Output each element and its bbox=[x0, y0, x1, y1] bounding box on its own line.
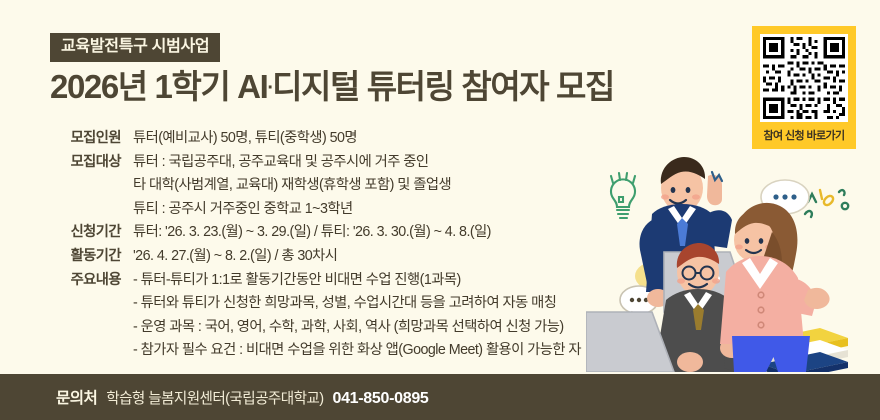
lightbulb-icon bbox=[611, 173, 635, 218]
info-row-label: 모집인원 bbox=[48, 127, 133, 151]
info-row-value: 튜터: '26. 3. 23.(월) ~ 3. 29.(일) / 튜티: '26… bbox=[133, 221, 648, 245]
info-row-label: 모집대상 bbox=[48, 151, 133, 175]
info-row: 주요내용- 튜터-튜티가 1:1로 활동기간동안 비대면 수업 진행(1과목) bbox=[48, 269, 648, 293]
program-badge: 교육발전특구 시범사업 bbox=[50, 33, 220, 62]
three-people-studying-illustration bbox=[586, 140, 880, 372]
info-row-label: 신청기간 bbox=[48, 221, 133, 245]
info-row: 활동기간'26. 4. 27.(월) ~ 8. 2.(일) / 총 30차시 bbox=[48, 245, 648, 269]
confetti-icon bbox=[805, 190, 848, 217]
page-title: 2026년 1학기 AI·디지털 튜터링 참여자 모집 bbox=[50, 68, 614, 107]
info-row: 신청기간튜터: '26. 3. 23.(월) ~ 3. 29.(일) / 튜티:… bbox=[48, 221, 648, 245]
qr-code-wrap bbox=[752, 26, 856, 124]
qr-apply-block[interactable]: 참여 신청 바로가기 bbox=[752, 26, 856, 149]
info-row-subline: - 튜터와 튜티가 신청한 희망과목, 성별, 수업시간대 등을 고려하여 자동… bbox=[48, 292, 648, 316]
info-row-subline: 타 대학(사범계열, 교육대) 재학생(휴학생 포함) 및 졸업생 bbox=[48, 174, 648, 198]
info-row: 모집대상튜터 : 국립공주대, 공주교육대 및 공주시에 거주 중인 bbox=[48, 151, 648, 175]
poster-root: 교육발전특구 시범사업 2026년 1학기 AI·디지털 튜터링 참여자 모집 … bbox=[0, 0, 880, 420]
footer-bar: 문의처 학습형 늘봄지원센터(국립공주대학교) 041-850-0895 bbox=[0, 374, 880, 420]
info-row-label: 주요내용 bbox=[48, 269, 133, 293]
title-part2: 디지털 튜터링 참여자 모집 bbox=[272, 68, 614, 105]
title-part1: 2026년 1학기 AI bbox=[50, 68, 267, 105]
info-row-value: 튜터(예비교사) 50명, 튜티(중학생) 50명 bbox=[133, 127, 648, 151]
footer-contact-label: 문의처 bbox=[56, 386, 97, 408]
info-row-value: 튜터 : 국립공주대, 공주교육대 및 공주시에 거주 중인 bbox=[133, 151, 648, 175]
qr-code-icon bbox=[760, 34, 848, 122]
info-table: 모집인원튜터(예비교사) 50명, 튜티(중학생) 50명모집대상튜터 : 국립… bbox=[48, 127, 648, 363]
info-row-subline: 튜티 : 공주시 거주중인 중학교 1~3학년 bbox=[48, 198, 648, 222]
info-row: 모집인원튜터(예비교사) 50명, 튜티(중학생) 50명 bbox=[48, 127, 648, 151]
info-row-label: 활동기간 bbox=[48, 245, 133, 269]
footer-organization: 학습형 늘봄지원센터(국립공주대학교) bbox=[106, 387, 323, 408]
info-row-subline: - 운영 과목 : 국어, 영어, 수학, 과학, 사회, 역사 (희망과목 선… bbox=[48, 316, 648, 340]
footer-telephone[interactable]: 041-850-0895 bbox=[332, 390, 428, 408]
info-row-value: - 튜터-튜티가 1:1로 활동기간동안 비대면 수업 진행(1과목) bbox=[133, 269, 648, 293]
info-row-value: '26. 4. 27.(월) ~ 8. 2.(일) / 총 30차시 bbox=[133, 245, 648, 269]
info-row-subline: - 참가자 필수 요건 : 비대면 수업을 위한 화상 앱(Google Mee… bbox=[48, 339, 648, 363]
